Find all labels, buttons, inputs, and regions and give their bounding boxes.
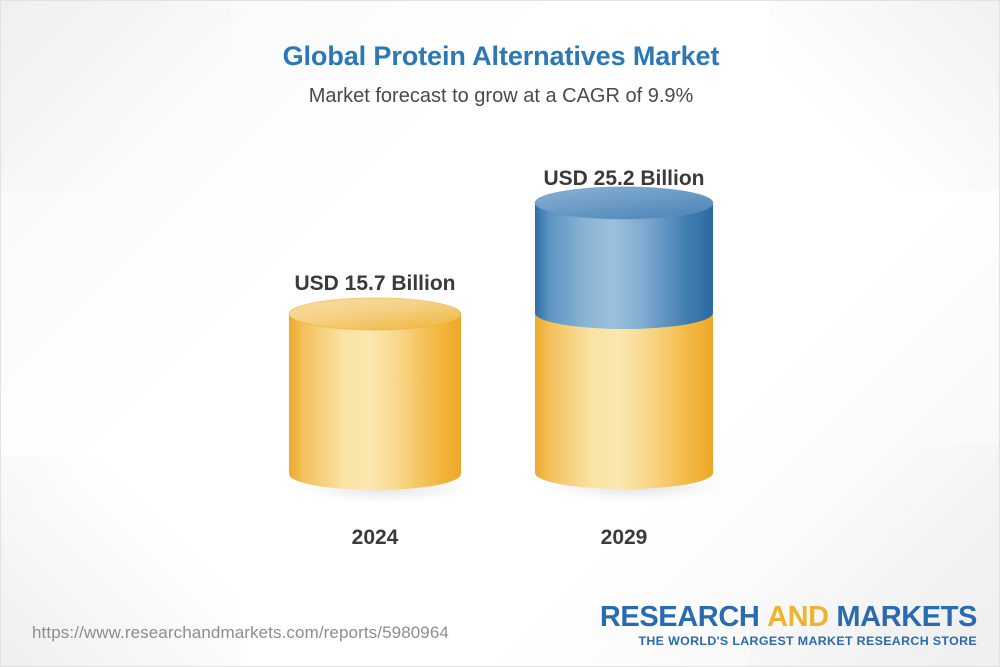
- source-url[interactable]: https://www.researchandmarkets.com/repor…: [32, 623, 449, 643]
- bar-category-label-2024: 2024: [289, 526, 461, 550]
- brand-logo-tagline: THE WORLD'S LARGEST MARKET RESEARCH STOR…: [600, 634, 977, 649]
- bar-value-label-2024: USD 15.7 Billion: [289, 272, 461, 296]
- chart-plot-area: USD 15.7 Billion: [1, 1, 1000, 667]
- logo-word-and: AND: [767, 601, 829, 633]
- brand-logo-wordmark: RESEARCH AND MARKETS: [600, 601, 977, 633]
- cylinder-2029: [535, 187, 713, 517]
- infographic-canvas: Global Protein Alternatives Market Marke…: [0, 0, 1000, 667]
- cylinder-2024: [289, 298, 461, 518]
- cylinder-segment-gold-2029: [535, 313, 713, 489]
- brand-logo[interactable]: RESEARCH AND MARKETS THE WORLD'S LARGEST…: [600, 601, 977, 649]
- cylinder-body-2024: [289, 314, 461, 490]
- logo-word-markets: MARKETS: [836, 601, 977, 633]
- bar-category-label-2029: 2029: [535, 526, 713, 550]
- cylinder-segment-blue-2029: [535, 203, 713, 329]
- logo-word-research: RESEARCH: [600, 601, 760, 633]
